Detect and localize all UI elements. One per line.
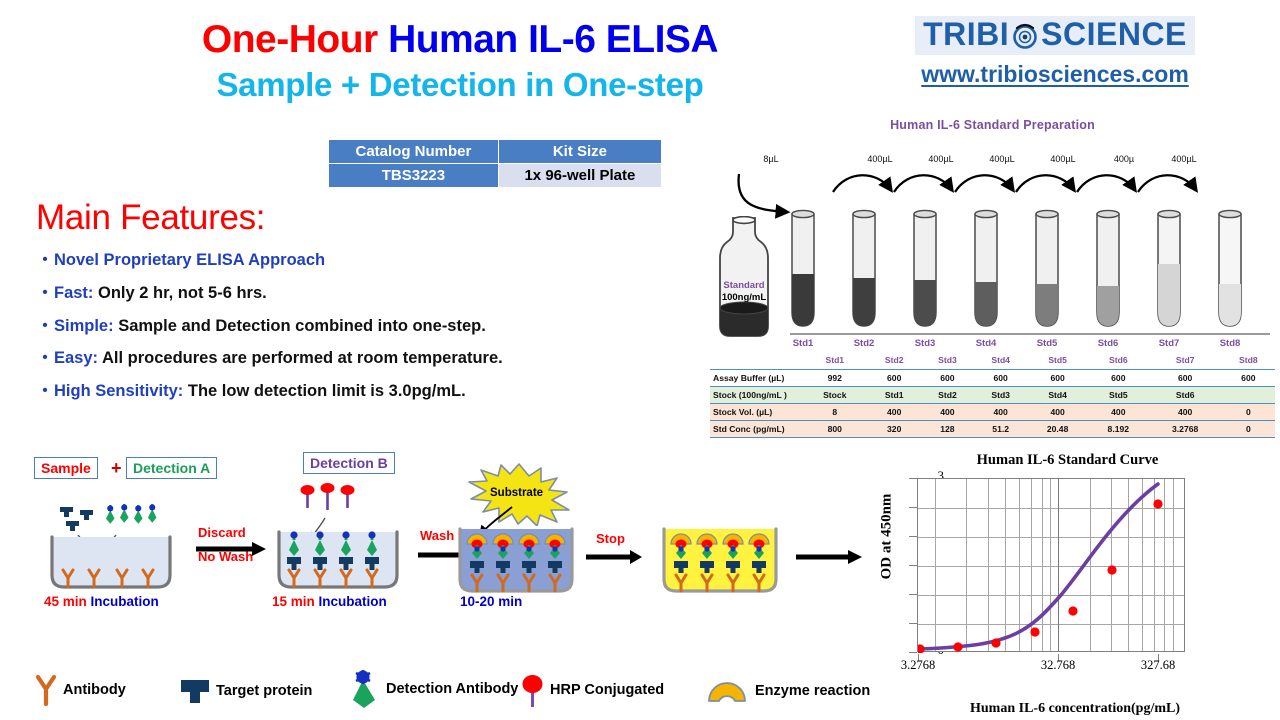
tube-tick-label: Std2 (844, 338, 884, 349)
tube-tick-label: Std6 (1088, 338, 1128, 349)
prep-cell: 600 (1088, 369, 1149, 386)
legend-label: HRP Conjugated (550, 682, 664, 698)
tube-tick-label: Std4 (966, 338, 1006, 349)
prep-col-std6: Std6 (1088, 352, 1149, 369)
chart-ytick-mark (909, 565, 917, 566)
detection-antibody-icon (106, 504, 157, 524)
prep-cell: 600 (974, 369, 1027, 386)
prep-cell: 400 (974, 403, 1027, 420)
prep-cell: 800 (802, 420, 868, 437)
tube-tick-label: Std1 (783, 338, 823, 349)
prep-cell: 8 (802, 403, 868, 420)
prep-col-std8: Std8 (1222, 352, 1275, 369)
step-3-time: 10-20 min (460, 594, 522, 609)
feature-text: Simple: Sample and Detection combined in… (54, 317, 486, 337)
prep-cell: 51.2 (974, 420, 1027, 437)
step-1-action: Incubation (91, 594, 159, 609)
target-protein-icon (179, 678, 211, 704)
standard-prep-diagram: 8µL 400µL 400µL 400µL 400µL 400µ 400µL (705, 132, 1280, 347)
feature-label: Fast: (54, 284, 93, 302)
brand-name-right: SCIENCE (1041, 16, 1187, 52)
antibody-y-icon (34, 674, 58, 706)
prep-cell: Std6 (1149, 386, 1222, 403)
tag-plus-sign: + (111, 458, 122, 479)
prep-cell: 400 (1149, 403, 1222, 420)
feature-label: Easy: (54, 349, 98, 367)
features-heading: Main Features: (36, 198, 696, 238)
detection-antibody-icon (347, 670, 381, 708)
prep-cell: 992 (802, 369, 868, 386)
prep-cell: 20.48 (1027, 420, 1088, 437)
feature-item: • Novel Proprietary ELISA Approach (36, 251, 696, 271)
main-features-section: Main Features: • Novel Proprietary ELISA… (36, 198, 696, 402)
prep-cell: 0 (1222, 403, 1275, 420)
tube-std5 (1036, 210, 1058, 326)
bullet-icon: • (36, 349, 54, 367)
prep-cell: Std1 (868, 386, 921, 403)
catalog-value-kit-size: 1x 96-well Plate (498, 164, 661, 188)
chart-x-axis-label: Human IL-6 concentration(pg/mL) (895, 701, 1255, 717)
standard-preparation-table: Std1 Std2 Std3 Std4 Std5 Std6 Std7 Std8 … (710, 352, 1275, 438)
flow-arrow-1-icon (196, 541, 268, 557)
bullet-icon: • (36, 284, 54, 302)
prep-cell: 600 (1027, 369, 1088, 386)
dilution-tube-row (790, 208, 1270, 336)
prep-cell: 3.2768 (1149, 420, 1222, 437)
legend-label: Target protein (216, 683, 312, 699)
standard-prep-title: Human IL-6 Standard Preparation (705, 118, 1280, 132)
tube-tick-label: Std3 (905, 338, 945, 349)
prep-table-row-stock-volume: Stock Vol. (µL) 8 400 400 400 400 400 40… (710, 403, 1275, 420)
prep-cell: Std4 (1027, 386, 1088, 403)
well-step-2 (263, 480, 413, 593)
flow-arrow-3-icon (586, 549, 644, 565)
chart-xtick-label: 32.768 (1018, 658, 1098, 673)
chart-ytick-mark (909, 536, 917, 537)
well-step-3 (446, 527, 586, 595)
tube-std8 (1219, 210, 1241, 326)
catalog-header-catalog-number: Catalog Number (329, 140, 499, 164)
feature-rest: The low detection limit is 3.0pg/mL. (183, 382, 465, 400)
prep-table-row-stock: Stock (100ng/mL ) Stock Std1 Std2 Std3 S… (710, 386, 1275, 403)
tube-std4 (975, 210, 997, 326)
tube-std7 (1158, 210, 1180, 326)
legend-label: Antibody (63, 682, 126, 698)
substrate-label: Substrate (490, 487, 543, 499)
tag-detection-a: Detection A (126, 457, 217, 479)
prep-cell: Std2 (921, 386, 974, 403)
hrp-conjugated-icon (521, 673, 545, 707)
feature-item: • Fast: Only 2 hr, not 5-6 hrs. (36, 284, 696, 304)
prep-col-std5: Std5 (1027, 352, 1088, 369)
prep-row-header: Stock (100ng/mL ) (710, 386, 802, 403)
prep-col-std4: Std4 (974, 352, 1027, 369)
feature-label: Simple: (54, 317, 114, 335)
bullet-icon: • (36, 317, 54, 335)
eye-logo-icon (1010, 20, 1040, 50)
bottle-label-standard: Standard (713, 280, 775, 291)
enzyme-reaction-icon (706, 678, 750, 704)
feature-text: High Sensitivity: The low detection limi… (54, 382, 466, 402)
prep-col-std3: Std3 (921, 352, 974, 369)
prep-col-std2: Std2 (868, 352, 921, 369)
prep-col-std7: Std7 (1149, 352, 1222, 369)
catalog-table-row: TBS3223 1x 96-well Plate (329, 164, 662, 188)
tube-tick-label: Std7 (1149, 338, 1189, 349)
prep-cell: 128 (921, 420, 974, 437)
prep-cell: 600 (1222, 369, 1275, 386)
prep-cell: 400 (868, 403, 921, 420)
poster-title: One-Hour Human IL-6 ELISA Sample + Detec… (60, 18, 860, 104)
chart-title: Human IL-6 Standard Curve (855, 452, 1280, 469)
brand-name-left: TRIBI (923, 16, 1009, 52)
chart-plot-wrapper: OD at 450nm 3 2.5 2 1.5 1 0.5 0 (855, 476, 1280, 676)
chart-ytick-mark (909, 478, 917, 479)
legend-item-antibody: Antibody (34, 674, 126, 706)
legend-label: Detection Antibody (386, 681, 518, 697)
prep-col-std1: Std1 (802, 352, 868, 369)
prep-row-header: Stock Vol. (µL) (710, 403, 802, 420)
feature-item: • Simple: Sample and Detection combined … (36, 317, 696, 337)
prep-table-row-std-conc: Std Conc (pg/mL) 800 320 128 51.2 20.48 … (710, 420, 1275, 437)
legend-item-hrp-conjugated: HRP Conjugated (521, 673, 664, 707)
feature-text: Novel Proprietary ELISA Approach (54, 251, 325, 271)
bullet-icon: • (36, 251, 54, 269)
prep-row-header: Assay Buffer (µL) (710, 369, 802, 386)
prep-cell: 600 (921, 369, 974, 386)
bottle-label-concentration: 100ng/mL (713, 292, 775, 303)
arrow-label-discard: Discard (198, 525, 246, 540)
tube-std2 (853, 210, 875, 326)
legend-item-enzyme-reaction: Enzyme reaction (706, 678, 870, 704)
flow-arrow-to-chart-icon (796, 549, 864, 565)
feature-label: Novel Proprietary ELISA Approach (54, 251, 325, 269)
tag-sample: Sample (34, 457, 98, 479)
brand-wordmark: TRIBI SCIENCE (915, 16, 1195, 55)
tube-std3 (914, 210, 936, 326)
chart-plot-area (917, 478, 1185, 652)
symbol-legend: Antibody Target protein Detection Antibo… (34, 668, 864, 712)
catalog-value-number: TBS3223 (329, 164, 499, 188)
legend-item-detection-antibody: Detection Antibody (347, 670, 518, 708)
prep-cell: 0 (1222, 420, 1275, 437)
prep-cell: 600 (1149, 369, 1222, 386)
chart-xtick-label: 327.68 (1118, 658, 1198, 673)
prep-cell: 400 (1088, 403, 1149, 420)
chart-data-points (918, 499, 1163, 653)
title-line-1: One-Hour Human IL-6 ELISA (60, 18, 860, 62)
standard-curve-chart: Human IL-6 Standard Curve OD at 450nm 3 … (855, 450, 1280, 715)
chart-ytick-mark (909, 652, 917, 653)
title-line-2: Sample + Detection in One-step (60, 66, 860, 104)
prep-cell: 600 (868, 369, 921, 386)
title-part-one-hour: One-Hour (202, 18, 388, 61)
tag-detection-b: Detection B (303, 452, 395, 474)
feature-item: • High Sensitivity: The low detection li… (36, 382, 696, 402)
tube-std1 (792, 210, 814, 326)
prep-cell: 320 (868, 420, 921, 437)
tube-std6 (1097, 210, 1119, 326)
catalog-header-kit-size: Kit Size (498, 140, 661, 164)
catalog-table: Catalog Number Kit Size TBS3223 1x 96-we… (328, 139, 662, 188)
chart-ytick-mark (909, 623, 917, 624)
step-1-duration: 45 min (44, 594, 87, 609)
website-link[interactable]: www.tribiosciences.com (845, 61, 1265, 88)
tube-tick-label: Std8 (1210, 338, 1250, 349)
feature-text: Easy: All procedures are performed at ro… (54, 349, 503, 369)
tube-tick-label: Std5 (1027, 338, 1067, 349)
prep-cell (1222, 386, 1275, 403)
prep-table-row-assay-buffer: Assay Buffer (µL) 992 600 600 600 600 60… (710, 369, 1275, 386)
chart-xtick-label: 3.2768 (878, 658, 958, 673)
arrow-label-stop: Stop (596, 531, 625, 546)
brand-logo-block: TRIBI SCIENCE www.tribiosciences.com (845, 16, 1265, 88)
prep-cell: Std3 (974, 386, 1027, 403)
prep-row-header: Std Conc (pg/mL) (710, 420, 802, 437)
prep-col-blank (710, 352, 802, 369)
feature-rest: Only 2 hr, not 5-6 hrs. (93, 284, 266, 302)
chart-series-svg (918, 479, 1186, 653)
prep-cell: 400 (1027, 403, 1088, 420)
feature-rest: All procedures are performed at room tem… (98, 349, 503, 367)
step-2-time: 15 min Incubation (272, 594, 387, 609)
bullet-icon: • (36, 382, 54, 400)
step-1-time: 45 min Incubation (44, 594, 159, 609)
step-2-action: Incubation (319, 594, 387, 609)
prep-cell: Std5 (1088, 386, 1149, 403)
legend-label: Enzyme reaction (755, 683, 870, 699)
step-2-duration: 15 min (272, 594, 315, 609)
title-part-assay: Human IL-6 ELISA (388, 18, 718, 61)
prep-cell: Stock (802, 386, 868, 403)
chart-ytick-mark (909, 507, 917, 508)
legend-item-target-protein: Target protein (179, 678, 312, 704)
prep-cell: 8.192 (1088, 420, 1149, 437)
assay-workflow-diagram: Sample + Detection A Detection B (20, 455, 870, 640)
prep-table-header-row: Std1 Std2 Std3 Std4 Std5 Std6 Std7 Std8 (710, 352, 1275, 369)
well-step-4 (650, 527, 790, 595)
well-step-1 (34, 493, 189, 593)
feature-item: • Easy: All procedures are performed at … (36, 349, 696, 369)
feature-text: Fast: Only 2 hr, not 5-6 hrs. (54, 284, 267, 304)
catalog-table-header-row: Catalog Number Kit Size (329, 140, 662, 164)
feature-label: High Sensitivity: (54, 382, 183, 400)
feature-rest: Sample and Detection combined into one-s… (114, 317, 486, 335)
hrp-conjugated-icon (301, 483, 355, 510)
chart-y-axis-label: OD at 450nm (879, 477, 896, 597)
target-protein-icon (60, 507, 93, 531)
prep-cell: 400 (921, 403, 974, 420)
chart-ytick-mark (909, 594, 917, 595)
